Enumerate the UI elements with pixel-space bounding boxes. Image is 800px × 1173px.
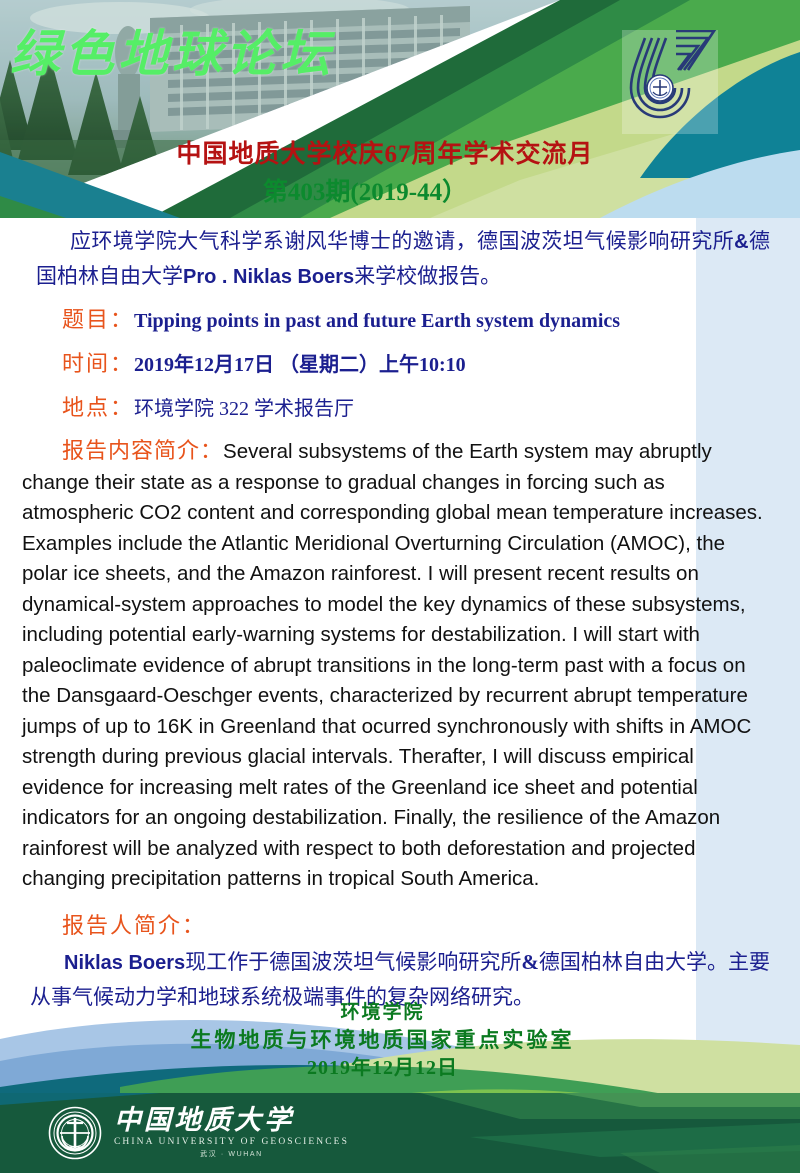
forum-title: 绿色地球论坛 [10, 14, 334, 86]
label-talk-title: 题目： [62, 307, 134, 332]
intro-text-c: 来学校做报告。 [354, 264, 501, 288]
poster-body: 应环境学院大气科学系谢风华博士的邀请，德国波茨坦气候影响研究所&德国柏林自由大学… [0, 218, 800, 1014]
label-speaker-bio: 报告人简介： [0, 895, 800, 943]
label-abstract: 报告内容简介： [22, 438, 223, 463]
anniversary-67-logo [622, 30, 718, 134]
label-talk-time: 时间： [62, 351, 134, 376]
invitation-paragraph: 应环境学院大气科学系谢风华博士的邀请，德国波茨坦气候影响研究所&德国柏林自由大学… [0, 218, 800, 294]
value-talk-title: Tipping points in past and future Earth … [134, 310, 620, 332]
signature-block: 环境学院 生物地质与环境地质国家重点实验室 2019年12月12日 [0, 1000, 800, 1082]
university-name-cn: 中国地质大学 [114, 1105, 349, 1135]
signature-school: 环境学院 [0, 1000, 765, 1026]
signature-date: 2019年12月12日 [0, 1054, 765, 1082]
university-name-block: 中国地质大学 CHINA UNIVERSITY OF GEOSCIENCES 武… [114, 1105, 349, 1160]
poster-header: 绿色地球论坛 中国地质大学校庆67周年学术交流月 第403期(2019-44） [0, 0, 800, 218]
anniversary-title: 中国地质大学校庆67周年学术交流月 [0, 134, 800, 170]
bio-ampersand: & [521, 950, 539, 974]
abstract-text: Several subsystems of the Earth system m… [22, 440, 763, 890]
poster-canvas: 绿色地球论坛 中国地质大学校庆67周年学术交流月 第403期(2019-44） [0, 0, 800, 1173]
footer-bar: 中国地质大学 CHINA UNIVERSITY OF GEOSCIENCES 武… [0, 1093, 800, 1173]
abstract-paragraph: 报告内容简介：Several subsystems of the Earth s… [0, 436, 800, 895]
intro-speaker-name: Pro . Niklas Boers [183, 266, 354, 288]
label-talk-venue: 地点： [62, 395, 134, 420]
intro-ampersand: & [734, 231, 748, 253]
bio-speaker-name: Niklas Boers [64, 952, 185, 974]
value-talk-venue: 环境学院 322 学术报告厅 [134, 398, 354, 420]
field-row-talk-venue: 地点：环境学院 322 学术报告厅 [0, 391, 800, 426]
university-campus: 武汉 · WUHAN [114, 1149, 349, 1160]
signature-lab: 生物地质与环境地质国家重点实验室 [0, 1026, 765, 1054]
field-row-talk-title: 题目：Tipping points in past and future Ear… [0, 303, 800, 338]
university-logo-lockup: 中国地质大学 CHINA UNIVERSITY OF GEOSCIENCES 武… [48, 1105, 349, 1160]
bio-text-a: 现工作于德国波茨坦气候影响研究所 [185, 950, 521, 974]
university-emblem-icon [48, 1106, 102, 1160]
university-name-en: CHINA UNIVERSITY OF GEOSCIENCES [114, 1135, 349, 1149]
issue-number: 第403期(2019-44） [0, 172, 800, 208]
value-talk-time: 2019年12月17日 （星期二）上午10:10 [134, 354, 466, 376]
field-row-talk-time: 时间：2019年12月17日 （星期二）上午10:10 [0, 347, 800, 382]
intro-text-a: 应环境学院大气科学系谢风华博士的邀请，德国波茨坦气候影响研究所 [70, 229, 734, 253]
